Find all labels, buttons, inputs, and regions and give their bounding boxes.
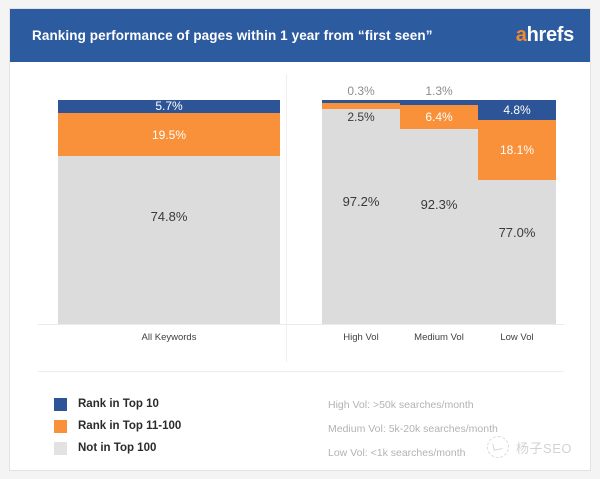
chart-plot-area: 5.7% 19.5% 74.8% All Keywords 0.3% (10, 62, 591, 362)
bar-segment-not-top100[interactable]: 97.2% (322, 109, 400, 324)
category-label-all-keywords: All Keywords (58, 332, 280, 343)
category-label-medium-vol: Medium Vol (400, 332, 478, 343)
legend-label: Not in Top 100 (78, 442, 156, 454)
chart-card: Ranking performance of pages within 1 ye… (9, 8, 591, 471)
note-high-vol: High Vol: >50k searches/month (328, 393, 578, 417)
bar-value-not-top100: 77.0% (499, 226, 536, 239)
bar-value-top11-100: 2.5% (347, 111, 374, 123)
chart-legend: Rank in Top 10 Rank in Top 11-100 Not in… (54, 393, 294, 459)
legend-item-top10[interactable]: Rank in Top 10 (54, 393, 294, 415)
bar-segment-top11-100[interactable]: 19.5% (58, 113, 280, 157)
watermark-text: 杨子SEO (516, 438, 572, 457)
bar-value-top11-100: 19.5% (152, 129, 186, 141)
footer-divider (38, 371, 564, 372)
bar-segment-top10[interactable]: 5.7% (58, 100, 280, 113)
bar-segment-not-top100[interactable]: 77.0% (478, 180, 556, 324)
bar-group-all-keywords[interactable]: 5.7% 19.5% 74.8% All Keywords (58, 100, 280, 324)
bar-segment-not-top100[interactable]: 92.3% (400, 129, 478, 324)
bar-value-top10: 4.8% (503, 104, 530, 116)
legend-item-not-top100[interactable]: Not in Top 100 (54, 437, 294, 459)
bar-value-not-top100: 74.8% (151, 210, 188, 223)
stacked-bar-low-vol: 4.8% 18.1% 77.0% (478, 100, 556, 324)
legend-item-top11-100[interactable]: Rank in Top 11-100 (54, 415, 294, 437)
ahrefs-logo-text: hrefs (527, 24, 574, 46)
group-separator (286, 74, 287, 362)
stacked-bar-medium-vol: 1.3% 6.4% 92.3% (400, 100, 478, 324)
stacked-bar-all-keywords: 5.7% 19.5% 74.8% (58, 100, 280, 324)
watermark-logo-icon (487, 436, 509, 458)
ahrefs-logo-accent: a (516, 24, 527, 46)
category-label-high-vol: High Vol (322, 332, 400, 343)
bar-group-medium-vol[interactable]: 1.3% 6.4% 92.3% Medium Vol (400, 100, 478, 324)
legend-label: Rank in Top 11-100 (78, 420, 181, 432)
category-label-low-vol: Low Vol (478, 332, 556, 343)
x-axis-line (38, 324, 564, 325)
bar-value-not-top100: 92.3% (421, 198, 458, 211)
bar-value-top11-100: 18.1% (500, 144, 534, 156)
legend-swatch-icon (54, 420, 67, 433)
bar-value-top10: 0.3% (347, 85, 374, 97)
ahrefs-logo: ahrefs (516, 24, 574, 47)
legend-label: Rank in Top 10 (78, 398, 159, 410)
bar-group-low-vol[interactable]: 4.8% 18.1% 77.0% Low Vol (478, 100, 556, 324)
page-title: Ranking performance of pages within 1 ye… (32, 28, 433, 43)
bar-segment-top11-100[interactable]: 6.4% (400, 105, 478, 130)
chart-header: Ranking performance of pages within 1 ye… (10, 9, 591, 62)
bar-segment-top10[interactable]: 4.8% (478, 100, 556, 120)
bar-segment-not-top100[interactable]: 74.8% (58, 156, 280, 324)
screenshot-root: Ranking performance of pages within 1 ye… (0, 0, 600, 479)
stacked-bar-high-vol: 0.3% 2.5% 97.2% (322, 100, 400, 324)
bar-segment-top11-100[interactable]: 18.1% (478, 120, 556, 181)
bar-group-high-vol[interactable]: 0.3% 2.5% 97.2% High Vol (322, 100, 400, 324)
watermark: 杨子SEO (487, 436, 572, 458)
bar-value-top10: 5.7% (155, 100, 182, 112)
bar-value-top11-100: 6.4% (425, 111, 452, 123)
bar-value-not-top100: 97.2% (343, 195, 380, 208)
legend-swatch-icon (54, 442, 67, 455)
bar-value-top10: 1.3% (425, 85, 452, 97)
legend-swatch-icon (54, 398, 67, 411)
